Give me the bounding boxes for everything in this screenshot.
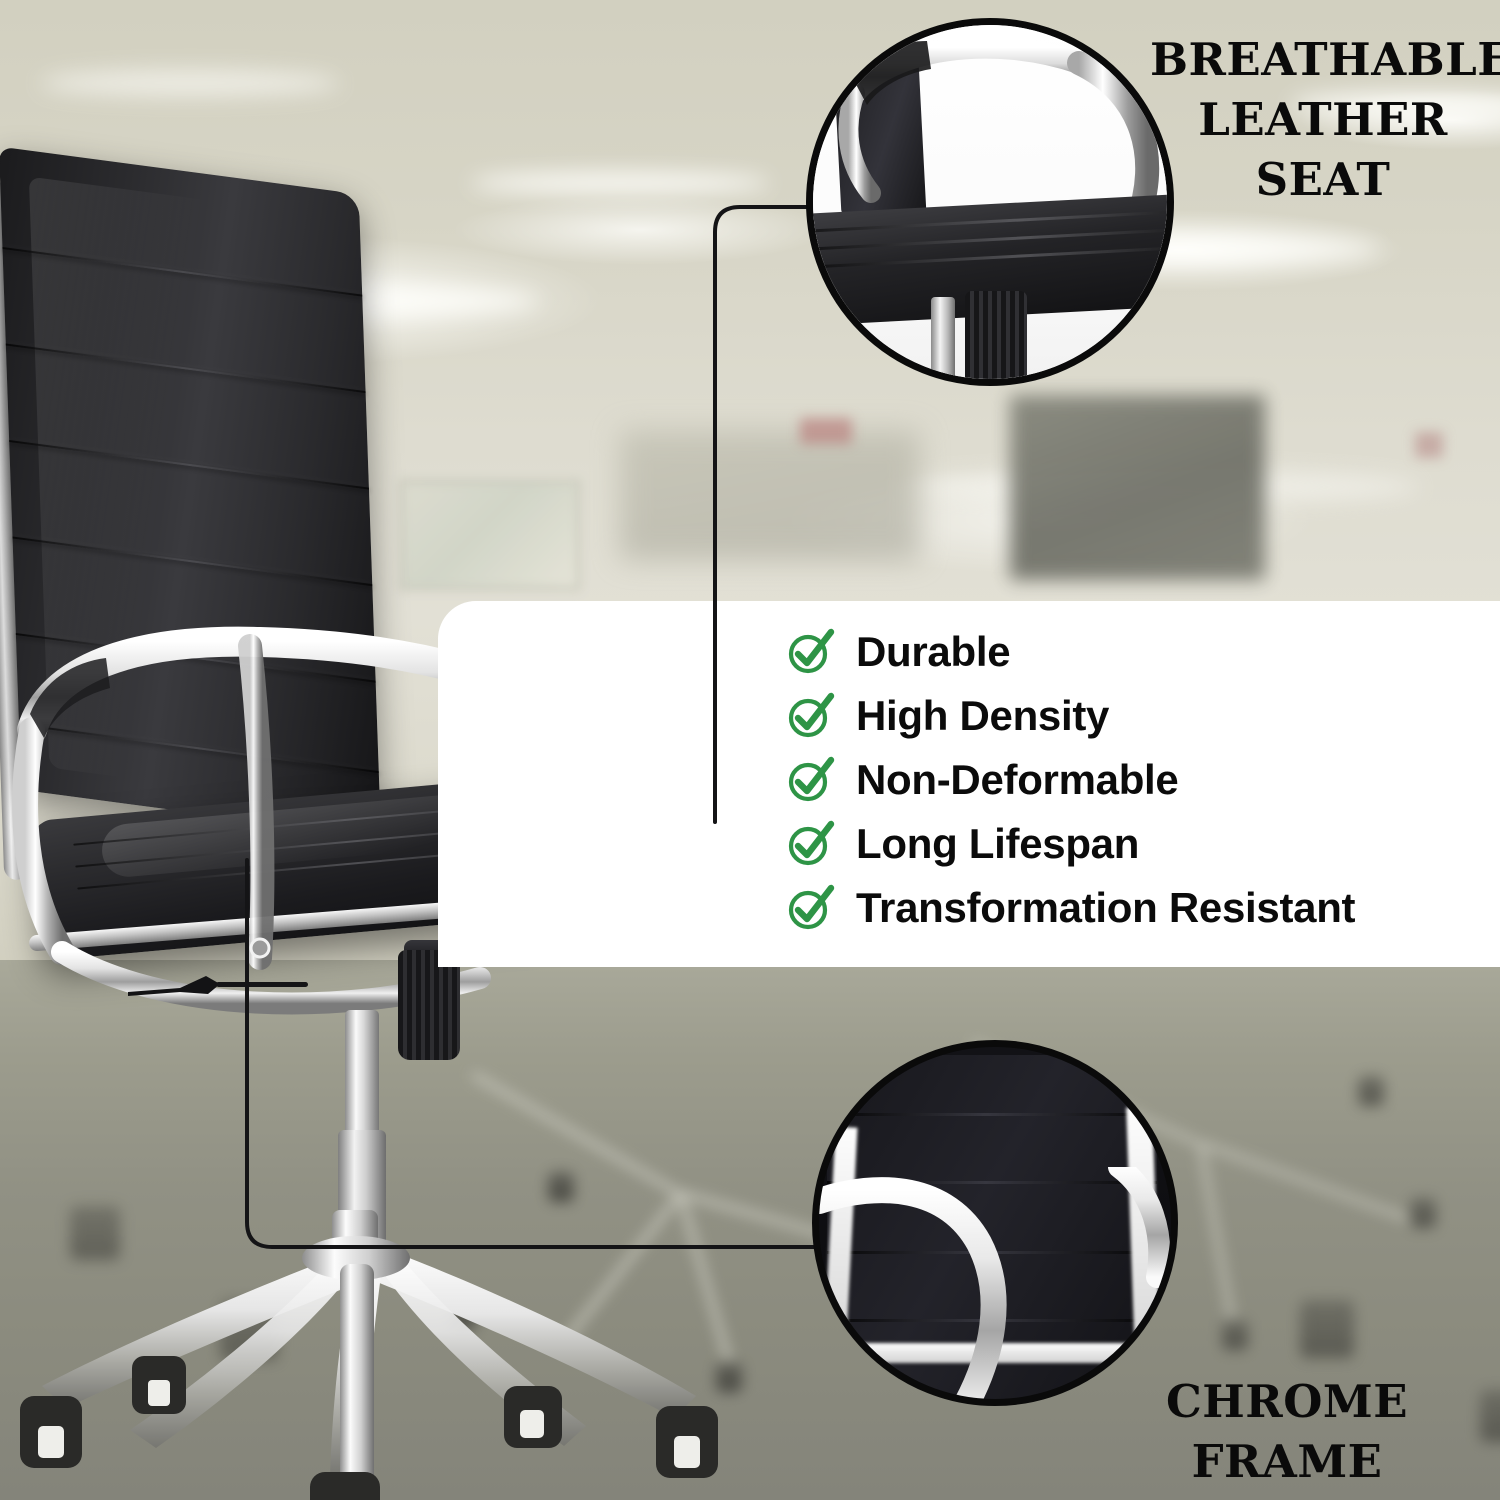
feature-label: Transformation Resistant [856, 887, 1355, 929]
feature-label: Durable [856, 631, 1010, 673]
callout-bottom-caption: CHROME FRAME ARMREST [1078, 1372, 1496, 1500]
callout-breathable-leather-seat [806, 18, 1174, 386]
check-circle-icon [786, 692, 834, 740]
check-circle-icon [786, 756, 834, 804]
feature-item: High Density [786, 687, 1486, 745]
features-panel: Durable High Density N [438, 601, 1500, 967]
feature-label: Non-Deformable [856, 759, 1179, 801]
check-circle-icon [786, 820, 834, 868]
background-wall-panel [1010, 395, 1265, 580]
feature-item: Non-Deformable [786, 751, 1486, 809]
infographic-canvas: Durable High Density N [0, 0, 1500, 1500]
feature-item: Durable [786, 623, 1486, 681]
background-exit-sign [1415, 432, 1443, 458]
callout-detail-image [819, 1047, 1171, 1399]
callout-top-caption: BREATHABLE LEATHER SEAT [1150, 30, 1496, 210]
caption-line: ARMREST [1078, 1492, 1496, 1500]
callout-detail-image [813, 25, 1167, 379]
caption-line: LEATHER [1150, 90, 1496, 150]
height-adjustment-lever [120, 970, 310, 1000]
ceiling-light-fixture [40, 70, 340, 96]
caption-line: BREATHABLE [1150, 30, 1496, 90]
check-circle-icon [786, 884, 834, 932]
background-exit-sign [800, 418, 852, 444]
caption-line: SEAT [1150, 150, 1496, 210]
callout-chrome-frame-armrest [812, 1040, 1178, 1406]
feature-label: Long Lifespan [856, 823, 1139, 865]
features-list: Durable High Density N [786, 623, 1486, 937]
caption-line: CHROME FRAME [1078, 1372, 1496, 1492]
feature-item: Transformation Resistant [786, 879, 1486, 937]
feature-item: Long Lifespan [786, 815, 1486, 873]
chrome-armrest-detail [819, 1167, 1178, 1406]
feature-label: High Density [856, 695, 1109, 737]
check-circle-icon [786, 628, 834, 676]
five-star-chrome-base [0, 1210, 740, 1500]
